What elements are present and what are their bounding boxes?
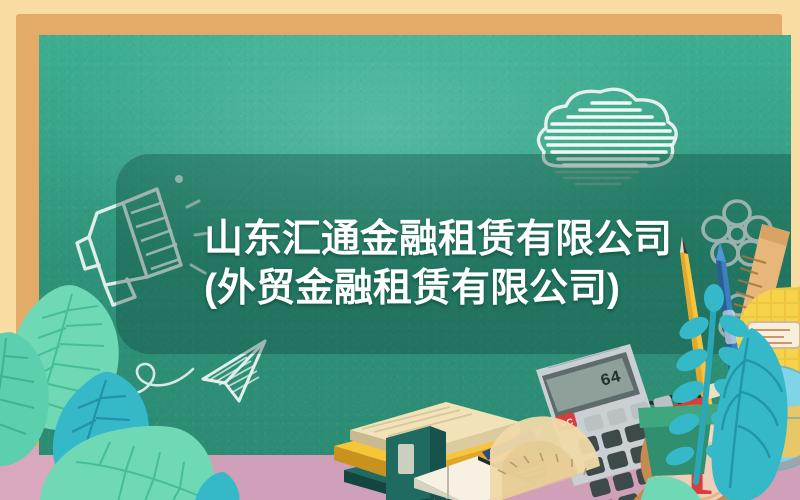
banner-canvas: 山东汇通金融租赁有限公司 (外贸金融租赁有限公司) xyxy=(0,0,800,500)
chalkboard-frame: 山东汇通金融租赁有限公司 (外贸金融租赁有限公司) xyxy=(16,14,782,446)
chalkboard: 山东汇通金融租赁有限公司 (外贸金融租赁有限公司) xyxy=(39,35,791,455)
title-block: 山东汇通金融租赁有限公司 (外贸金融租赁有限公司) xyxy=(204,215,791,313)
page-title-line-2: (外贸金融租赁有限公司) xyxy=(204,264,791,313)
page-title-line-1: 山东汇通金融租赁有限公司 xyxy=(204,215,791,264)
desk-surface-pink-shade xyxy=(120,448,800,500)
